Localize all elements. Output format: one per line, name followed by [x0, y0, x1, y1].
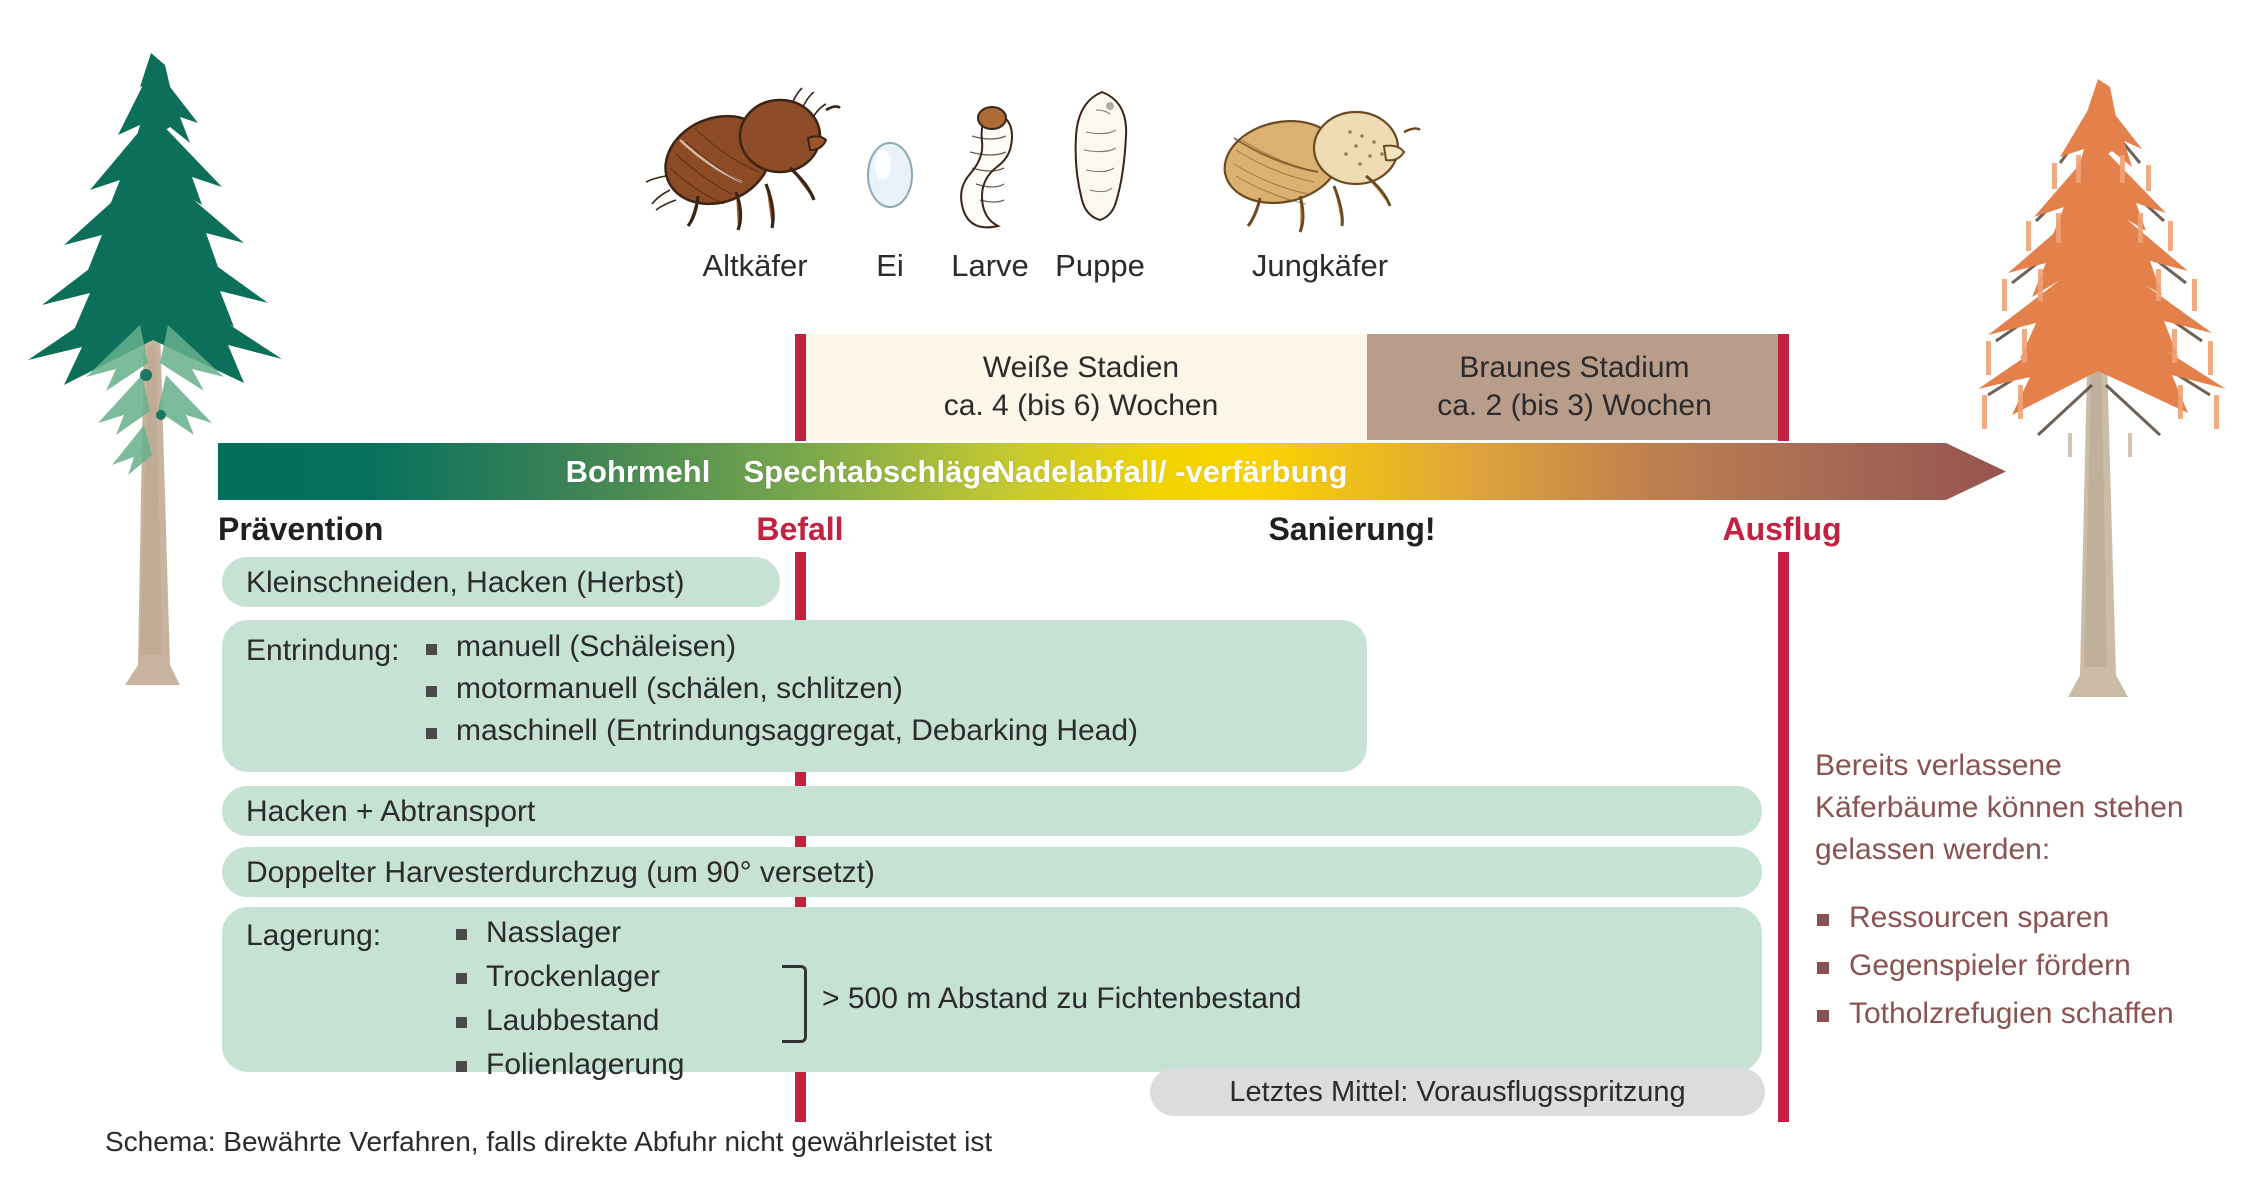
list-item: motormanuell (schälen, schlitzen) [422, 668, 1138, 710]
pupa-icon [1040, 80, 1160, 240]
lifecycle-stage-larve: Larve [930, 80, 1050, 240]
measure-label-letztes-mittel: Letztes Mittel: Vorausflugsspritzung [1229, 1076, 1685, 1109]
gradient-label-nadelabfall: Nadelabfall/ -verfärbung [993, 454, 1348, 490]
phase-label-praevention: Prävention [218, 511, 383, 548]
old-beetle-icon [640, 80, 870, 240]
figure-caption: Schema: Bewährte Verfahren, falls direkt… [105, 1126, 992, 1158]
healthy-spruce-tree [20, 25, 290, 715]
ausflug-marker-line-bottom [1778, 552, 1789, 1122]
befall-marker-line-seg1 [795, 552, 806, 620]
stage-brown-block: Braunes Stadium ca. 2 (bis 3) Wochen [1367, 334, 1782, 440]
infested-spruce-tree [1960, 45, 2240, 725]
measure-box-letztes-mittel[interactable]: Letztes Mittel: Vorausflugsspritzung [1150, 1068, 1765, 1116]
measure-label-hacken: Hacken + Abtransport [246, 795, 535, 829]
measure-box-hacken[interactable]: Hacken + Abtransport [222, 786, 1762, 836]
entrindung-list: manuell (Schäleisen) motormanuell (schäl… [422, 626, 1138, 752]
larva-icon [930, 80, 1050, 240]
measure-label-lagerung: Lagerung: [246, 919, 381, 953]
lifecycle-label-jungkaefer: Jungkäfer [1252, 248, 1388, 284]
list-item: Nasslager [452, 911, 684, 955]
young-beetle-icon [1190, 80, 1450, 240]
list-item: Laubbestand [452, 999, 684, 1043]
ausflug-marker-line-top [1778, 334, 1789, 441]
lifecycle-label-altkaefer: Altkäfer [702, 248, 807, 284]
lifecycle-stage-puppe: Puppe [1040, 80, 1160, 240]
phase-label-ausflug: Ausflug [1722, 511, 1841, 548]
stage-duration-band: Weiße Stadien ca. 4 (bis 6) Wochen Braun… [795, 334, 1782, 440]
measure-label-entrindung: Entrindung: [246, 634, 399, 668]
befall-marker-line-top [795, 334, 806, 441]
phase-label-befall: Befall [756, 511, 843, 548]
lifecycle-label-puppe: Puppe [1055, 248, 1145, 284]
list-item: Totholzrefugien schaffen [1815, 993, 2225, 1035]
gradient-label-spechtabschlaege: Spechtabschläge [744, 454, 999, 490]
lagerung-list: Nasslager Trockenlager Laubbestand Folie… [452, 911, 684, 1087]
stage-white-block: Weiße Stadien ca. 4 (bis 6) Wochen [795, 334, 1367, 440]
measure-box-lagerung[interactable]: Lagerung: Nasslager Trockenlager Laubbes… [222, 907, 1762, 1072]
list-item: Trockenlager [452, 955, 684, 999]
stage-white-duration: ca. 4 (bis 6) Wochen [944, 387, 1219, 425]
right-note-list: Ressourcen sparen Gegenspieler fördern T… [1815, 897, 2225, 1035]
list-item: Folienlagerung [452, 1043, 684, 1087]
stage-brown-title: Braunes Stadium [1459, 349, 1689, 387]
list-item: Ressourcen sparen [1815, 897, 2225, 939]
lifecycle-label-larve: Larve [951, 248, 1029, 284]
brace-bracket-icon [782, 965, 807, 1043]
measure-box-entrindung[interactable]: Entrindung: manuell (Schäleisen) motorma… [222, 620, 1367, 772]
right-note-heading: Bereits verlassene Käferbäume können ste… [1815, 745, 2225, 871]
measure-box-kleinschneiden[interactable]: Kleinschneiden, Hacken (Herbst) [222, 557, 780, 607]
list-item: maschinell (Entrindungsaggregat, Debarki… [422, 710, 1138, 752]
lifecycle-stage-row: Altkäfer Ei Larve [640, 80, 1760, 310]
lifecycle-label-ei: Ei [876, 248, 904, 284]
list-item: Gegenspieler fördern [1815, 945, 2225, 987]
measure-box-doppelter-harvesterdurchzug[interactable]: Doppelter Harvesterdurchzug (um 90° vers… [222, 847, 1762, 897]
timeline-gradient-arrow: Bohrmehl Spechtabschläge Nadelabfall/ -v… [218, 443, 2006, 500]
lifecycle-stage-jungkaefer: Jungkäfer [1190, 80, 1450, 240]
stage-brown-duration: ca. 2 (bis 3) Wochen [1437, 387, 1712, 425]
phase-label-sanierung: Sanierung! [1268, 511, 1435, 548]
gradient-label-bohrmehl: Bohrmehl [566, 454, 711, 490]
measure-label-kleinschneiden: Kleinschneiden, Hacken (Herbst) [246, 566, 685, 600]
lifecycle-stage-altkaefer: Altkäfer [640, 80, 870, 240]
egg-icon [845, 80, 935, 240]
lagerung-distance-note: > 500 m Abstand zu Fichtenbestand [822, 982, 1302, 1016]
befall-marker-line-bottom [795, 1070, 806, 1122]
list-item: manuell (Schäleisen) [422, 626, 1138, 668]
lifecycle-stage-ei: Ei [845, 80, 935, 240]
gradient-arrow-body: Bohrmehl Spechtabschläge Nadelabfall/ -v… [218, 443, 2006, 500]
measure-label-doppelter: Doppelter Harvesterdurchzug (um 90° vers… [246, 856, 875, 890]
stage-white-title: Weiße Stadien [983, 349, 1179, 387]
right-side-note: Bereits verlassene Käferbäume können ste… [1815, 745, 2225, 1041]
